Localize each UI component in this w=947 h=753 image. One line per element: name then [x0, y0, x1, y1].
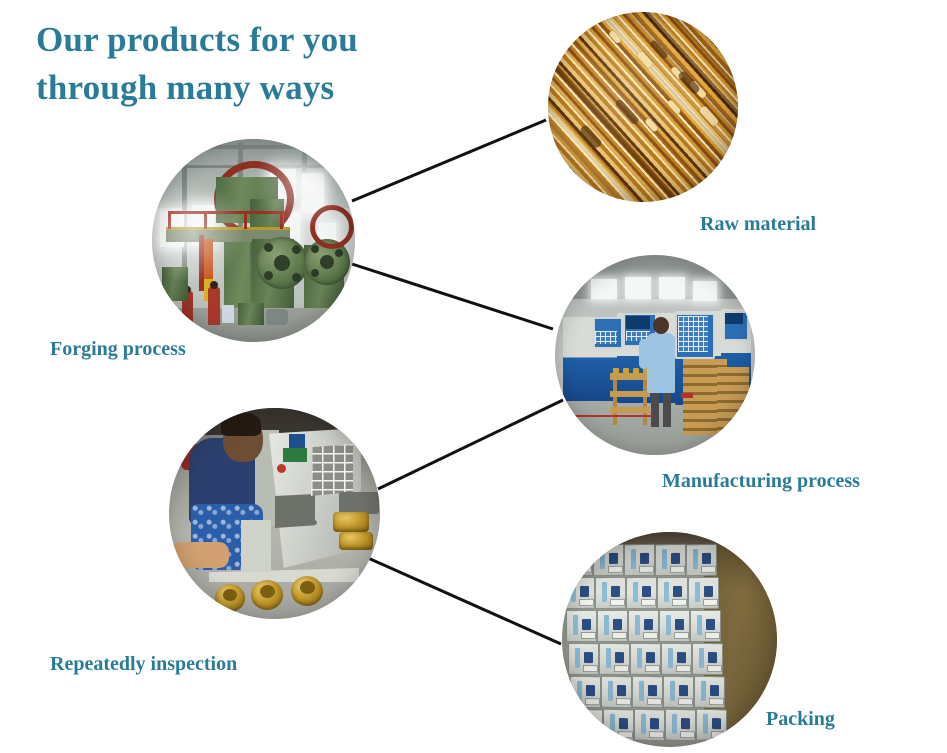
- connector-inspection-to-packing: [368, 558, 561, 644]
- label-repeatedly-inspection: Repeatedly inspection: [50, 653, 237, 676]
- scene-forging-hall: [152, 139, 355, 342]
- scene-brass-rods: [548, 12, 738, 202]
- photo-shading: [562, 532, 777, 747]
- wooden-tray: [610, 407, 650, 413]
- cnc-keypad: [678, 316, 708, 352]
- machine-label: [681, 393, 693, 398]
- cnc-screen: [725, 313, 743, 324]
- photo-forging-process[interactable]: [152, 139, 355, 342]
- wooden-tray: [610, 373, 650, 380]
- workshop-window: [625, 277, 651, 299]
- connector-forging-to-raw: [352, 120, 546, 201]
- infographic-canvas: Our products for you through many ways: [0, 0, 947, 753]
- label-manufacturing-process: Manufacturing process: [662, 470, 860, 493]
- scene-packing: [562, 532, 777, 747]
- cnc-keypad: [311, 444, 353, 496]
- workshop-ceiling: [555, 255, 755, 299]
- worker-arm: [171, 542, 229, 568]
- label-raw-material: Raw material: [700, 213, 816, 236]
- workshop-window: [591, 279, 617, 299]
- brass-parts-tray: [339, 532, 373, 550]
- cnc-keypad: [595, 331, 617, 344]
- worker-leg: [651, 389, 659, 427]
- window-glare: [152, 139, 355, 342]
- photo-raw-material[interactable]: [548, 12, 738, 202]
- worker-arm: [639, 339, 649, 369]
- worker-leg: [663, 389, 671, 427]
- brass-fitting-bore: [260, 585, 275, 598]
- workshop-window: [659, 277, 685, 299]
- connector-inspection-to-manufacturing: [378, 400, 563, 489]
- white-tray: [241, 520, 271, 572]
- brass-fitting: [189, 596, 211, 614]
- connector-forging-to-manufacturing: [352, 264, 553, 329]
- worker-shirt: [647, 333, 675, 393]
- photo-repeatedly-inspection[interactable]: [169, 408, 380, 619]
- wooden-crate-stack: [717, 367, 749, 431]
- workshop-window: [693, 281, 717, 301]
- photo-vignette: [548, 12, 738, 202]
- brass-fitting-bore: [300, 581, 315, 594]
- worker-head: [653, 317, 669, 334]
- photo-packing[interactable]: [562, 532, 777, 747]
- worker-hair: [221, 412, 261, 436]
- label-packing: Packing: [766, 708, 835, 731]
- photo-manufacturing-process[interactable]: [555, 255, 755, 455]
- scene-cnc-shop: [555, 255, 755, 455]
- wooden-tray: [610, 391, 650, 397]
- brass-fitting-bore: [223, 589, 237, 601]
- machine-handle: [291, 520, 317, 525]
- brass-part: [633, 368, 639, 374]
- machine-rear-parts: [339, 492, 379, 514]
- label-forging-process: Forging process: [50, 338, 186, 361]
- floor-cable: [573, 415, 653, 417]
- wooden-tray-leg: [613, 375, 617, 425]
- emergency-stop-button: [277, 464, 286, 473]
- brass-part: [613, 368, 619, 374]
- brass-parts-tray: [333, 512, 369, 532]
- brass-part: [623, 368, 629, 374]
- cnc-status-display: [283, 448, 307, 462]
- scene-inspection: [169, 408, 380, 619]
- cnc-screen: [626, 316, 650, 329]
- connector-lines: [0, 0, 947, 753]
